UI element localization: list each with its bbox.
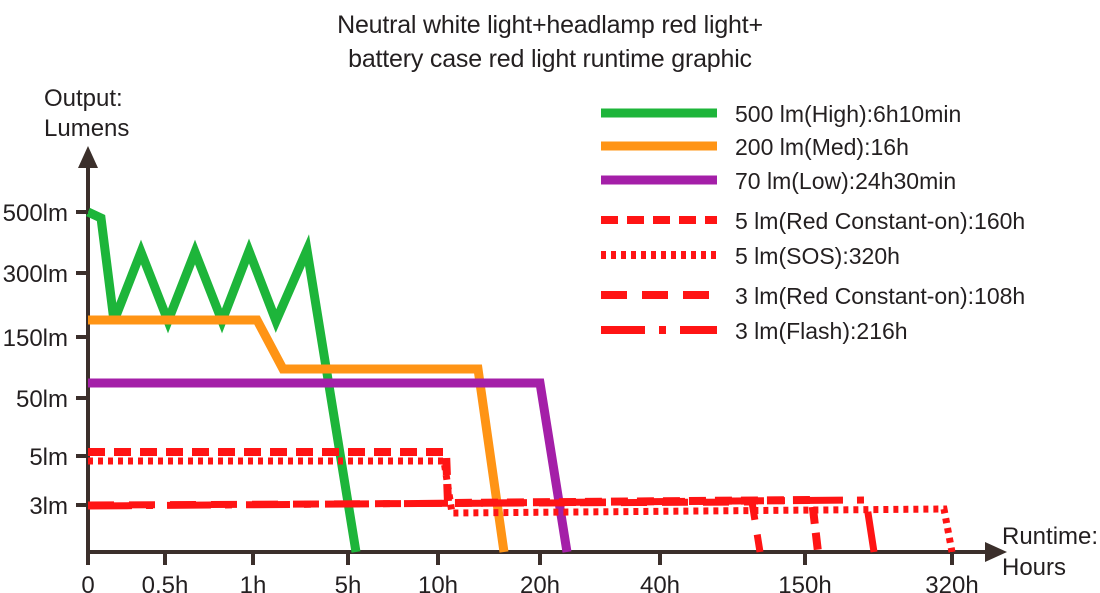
x-tick-label: 0.5h <box>142 572 189 593</box>
legend-label-6[interactable]: 3 lm(Red Constant-on):108h <box>735 283 1025 309</box>
y-tick-label-layer: 500lm300lm150lm50lm5lm3lm <box>3 200 88 520</box>
y-tick-label: 5lm <box>29 444 68 471</box>
x-tick-label: 320h <box>925 572 978 593</box>
legend-label-7[interactable]: 3 lm(Flash):216h <box>735 318 908 344</box>
series-line-6 <box>88 502 760 552</box>
series-line-2 <box>88 320 504 552</box>
legend-label-5[interactable]: 5 lm(SOS):320h <box>735 243 900 269</box>
x-tick-label: 1h <box>240 572 267 593</box>
y-tick-label: 150lm <box>3 325 68 352</box>
y-tick-label: 300lm <box>3 261 68 288</box>
x-tick-label: 5h <box>335 572 362 593</box>
x-tick-label: 0 <box>81 572 94 593</box>
legend-label-4[interactable]: 5 lm(Red Constant-on):160h <box>735 208 1025 234</box>
x-tick-label: 40h <box>640 572 680 593</box>
y-tick-label: 50lm <box>16 386 68 413</box>
legend-label-3[interactable]: 70 lm(Low):24h30min <box>735 168 956 194</box>
x-axis-arrow <box>985 542 1007 562</box>
y-axis-arrow <box>78 146 98 168</box>
x-tick-label-layer: 00.5h1h5h10h20h40h150h320h <box>81 552 978 593</box>
x-tick-label: 10h <box>418 572 458 593</box>
x-tick-label: 150h <box>778 572 831 593</box>
chart-plot-area: 500lm300lm150lm50lm5lm3lm 00.5h1h5h10h20… <box>0 0 1100 593</box>
x-tick-label: 20h <box>520 572 560 593</box>
legend-layer: 500 lm(High):6h10min200 lm(Med):16h70 lm… <box>601 101 1025 344</box>
y-tick-label: 3lm <box>29 493 68 520</box>
legend-label-2[interactable]: 200 lm(Med):16h <box>735 134 909 160</box>
y-tick-label: 500lm <box>3 200 68 227</box>
legend-label-1[interactable]: 500 lm(High):6h10min <box>735 101 961 127</box>
runtime-chart-page: Neutral white light+headlamp red light+ … <box>0 0 1100 593</box>
